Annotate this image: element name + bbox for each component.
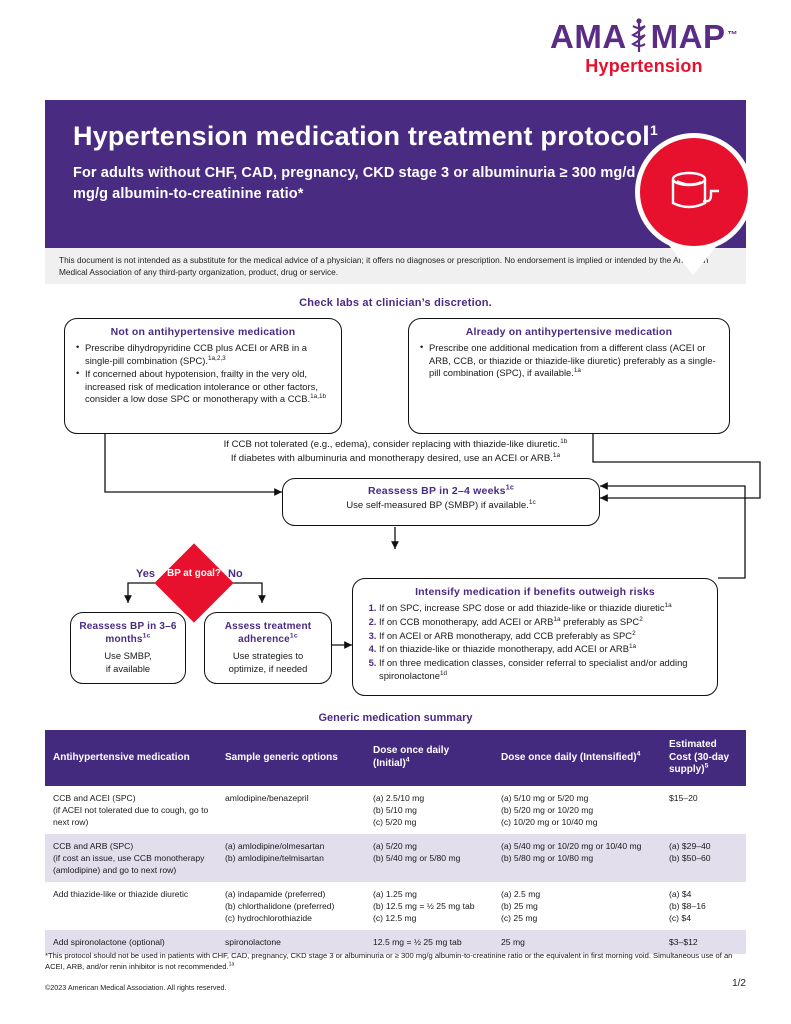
list-item: Prescribe dihydropyridine CCB plus ACEI … — [76, 342, 330, 367]
box-reassess-3-6-months-body: Use SMBP, if available — [77, 650, 179, 675]
cell-intensified: (a) 2.5 mg(b) 25 mg(c) 25 mg — [493, 882, 661, 930]
generic-medication-table: Antihypertensive medication Sample gener… — [45, 730, 746, 954]
cell-intensified: (a) 5/40 mg or 10/20 mg or 10/40 mg(b) 5… — [493, 834, 661, 882]
list-item: If concerned about hypotension, frailty … — [76, 368, 330, 406]
note-line-2: If diabetes with albuminuria and monothe… — [0, 452, 791, 466]
box-reassess-3-6-months-title: Reassess BP in 3–6 months1c — [77, 621, 179, 646]
column-header-options: Sample generic options — [217, 730, 365, 786]
cell-options: amlodipine/benazepril — [217, 786, 365, 834]
table-row: CCB and ACEI (SPC)(if ACEI not tolerated… — [45, 786, 746, 834]
box-reassess-3-6-months: Reassess BP in 3–6 months1c Use SMBP, if… — [70, 612, 186, 684]
protocol-footnote: *This protocol should not be used in pat… — [45, 950, 746, 973]
protocol-page: AMA MAP ™ Hypertension Hypertension medi… — [0, 0, 791, 1024]
table-section-title: Generic medication summary — [0, 712, 791, 724]
box-already-on-medication-title: Already on antihypertensive medication — [420, 326, 718, 338]
table-row: CCB and ARB (SPC)(if cost an issue, use … — [45, 834, 746, 882]
cell-medication: CCB and ARB (SPC)(if cost an issue, use … — [45, 834, 217, 882]
cell-medication: Add thiazide-like or thiazide diuretic — [45, 882, 217, 930]
cell-initial: (a) 2.5/10 mg(b) 5/10 mg(c) 5/20 mg — [365, 786, 493, 834]
box-intensify-list: If on SPC, increase SPC dose or add thia… — [379, 602, 706, 683]
box-already-on-medication: Already on antihypertensive medication P… — [408, 318, 730, 434]
body-line-1: Use strategies to — [211, 650, 325, 663]
decision-bp-at-goal: BP at goal? — [160, 568, 228, 580]
branch-label-yes: Yes — [136, 568, 155, 580]
cell-options: (a) indapamide (preferred)(b) chlorthali… — [217, 882, 365, 930]
list-item: If on ACEI or ARB monotherapy, add CCB p… — [379, 630, 706, 643]
table-header-row: Antihypertensive medication Sample gener… — [45, 730, 746, 786]
cell-cost: (a) $29–40(b) $50–60 — [661, 834, 746, 882]
note-line-1: If CCB not tolerated (e.g., edema), cons… — [0, 438, 791, 452]
body-line-2: optimize, if needed — [211, 663, 325, 676]
cell-initial: (a) 1.25 mg(b) 12.5 mg = ½ 25 mg tab(c) … — [365, 882, 493, 930]
cell-options: (a) amlodipine/olmesartan(b) amlodipine/… — [217, 834, 365, 882]
column-header-intensified-dose: Dose once daily (Intensified)4 — [493, 730, 661, 786]
list-item: If on SPC, increase SPC dose or add thia… — [379, 602, 706, 615]
list-item: If on CCB monotherapy, add ACEI or ARB1a… — [379, 616, 706, 629]
box-assess-adherence-body: Use strategies to optimize, if needed — [211, 650, 325, 675]
column-header-initial-dose: Dose once daily (Initial)4 — [365, 730, 493, 786]
box-intensify-medication: Intensify medication if benefits outweig… — [352, 578, 718, 696]
page-number: 1/2 — [732, 978, 746, 989]
body-line-1: Use SMBP, — [77, 650, 179, 663]
cell-intensified: (a) 5/10 mg or 5/20 mg(b) 5/20 mg or 10/… — [493, 786, 661, 834]
blood-pressure-cuff-icon — [635, 133, 753, 251]
ccb-tolerance-note: If CCB not tolerated (e.g., edema), cons… — [0, 438, 791, 467]
box-not-on-medication-list: Prescribe dihydropyridine CCB plus ACEI … — [76, 342, 330, 406]
copyright-text: ©2023 American Medical Association. All … — [45, 983, 226, 992]
column-header-medication: Antihypertensive medication — [45, 730, 217, 786]
cell-cost: (a) $4(b) $8–16(c) $4 — [661, 882, 746, 930]
list-item: If on three medication classes, consider… — [379, 657, 706, 683]
cell-initial: (a) 5/20 mg(b) 5/40 mg or 5/80 mg — [365, 834, 493, 882]
box-assess-adherence: Assess treatment adherence1c Use strateg… — [204, 612, 332, 684]
column-header-cost: Estimated Cost (30-day supply)5 — [661, 730, 746, 786]
box-not-on-medication: Not on antihypertensive medication Presc… — [64, 318, 342, 434]
branch-label-no: No — [228, 568, 243, 580]
list-item: Prescribe one additional medication from… — [420, 342, 718, 380]
cell-cost: $15–20 — [661, 786, 746, 834]
box-reassess-2-4-weeks-body: Use self-measured BP (SMBP) if available… — [294, 500, 588, 511]
box-intensify-title: Intensify medication if benefits outweig… — [364, 586, 706, 598]
box-reassess-2-4-weeks-title: Reassess BP in 2–4 weeks1c — [294, 485, 588, 497]
box-reassess-2-4-weeks: Reassess BP in 2–4 weeks1c Use self-meas… — [282, 478, 600, 526]
list-item: If on thiazide-like or thiazide monother… — [379, 643, 706, 656]
table-body: CCB and ACEI (SPC)(if ACEI not tolerated… — [45, 786, 746, 954]
table-row: Add thiazide-like or thiazide diuretic (… — [45, 882, 746, 930]
box-assess-adherence-title: Assess treatment adherence1c — [211, 621, 325, 646]
cell-medication: CCB and ACEI (SPC)(if ACEI not tolerated… — [45, 786, 217, 834]
box-already-on-medication-list: Prescribe one additional medication from… — [420, 342, 718, 380]
body-line-2: if available — [77, 663, 179, 676]
box-not-on-medication-title: Not on antihypertensive medication — [76, 326, 330, 338]
